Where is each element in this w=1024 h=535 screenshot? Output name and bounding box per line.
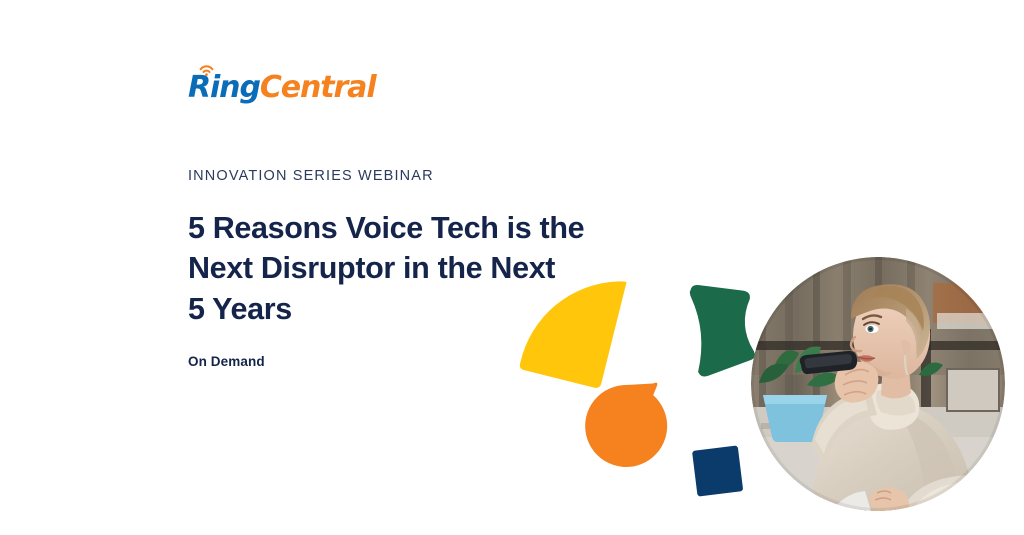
- woman-speaking-into-phone-photo: [751, 257, 1005, 511]
- headline-line-3: 5 Years: [188, 289, 618, 329]
- headline-line-2: Next Disruptor in the Next: [188, 248, 618, 288]
- logo-text-central: Central: [260, 73, 376, 103]
- eyebrow-label: INNOVATION SERIES WEBINAR: [188, 169, 434, 184]
- headline-line-1: 5 Reasons Voice Tech is the: [188, 208, 618, 248]
- orange-teardrop-circle-icon: [582, 382, 670, 470]
- wifi-signal-icon: [199, 64, 214, 76]
- ringcentral-logo[interactable]: Ring Central: [188, 63, 376, 103]
- logo-text-ring: Ring: [188, 73, 260, 103]
- availability-badge: On Demand: [188, 355, 265, 369]
- green-concave-square-icon: [689, 280, 758, 378]
- page-title: 5 Reasons Voice Tech is the Next Disrupt…: [188, 208, 618, 329]
- navy-rounded-square-icon: [692, 445, 743, 496]
- webinar-promo-slide: Ring Central INNOVATION SERIES WEBINAR 5…: [0, 0, 1024, 535]
